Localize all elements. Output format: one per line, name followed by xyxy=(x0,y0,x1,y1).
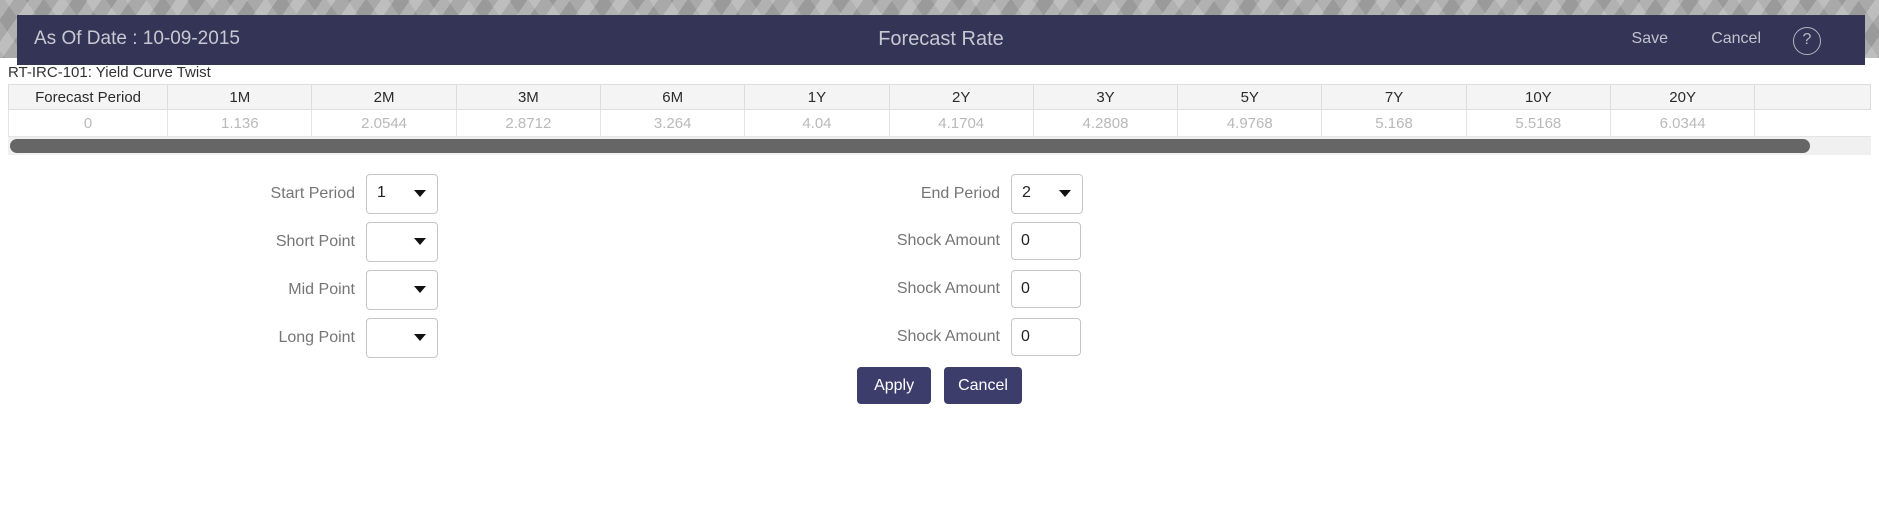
field-row-shock-amount-short: Shock Amount xyxy=(835,222,1081,260)
column-header: 5Y xyxy=(1178,85,1322,110)
column-header: 1Y xyxy=(745,85,889,110)
column-header-spacer xyxy=(1755,85,1871,110)
long-point-select[interactable] xyxy=(366,318,438,358)
column-header: 7Y xyxy=(1322,85,1466,110)
twist-parameters-form: Start Period 1 Short Point Mid Point Lon… xyxy=(0,160,1879,450)
app-header-bar: As Of Date : 10-09-2015 Forecast Rate Sa… xyxy=(17,15,1865,65)
table-cell[interactable]: 1.136 xyxy=(168,110,312,137)
field-row-short-point: Short Point xyxy=(190,222,438,262)
field-row-mid-point: Mid Point xyxy=(190,270,438,310)
label-mid-point: Mid Point xyxy=(190,281,355,299)
start-period-value: 1 xyxy=(377,184,386,202)
table-cell-spacer xyxy=(1755,110,1871,137)
short-point-select[interactable] xyxy=(366,222,438,262)
column-header: Forecast Period xyxy=(9,85,168,110)
label-short-point: Short Point xyxy=(190,233,355,251)
end-period-value: 2 xyxy=(1022,184,1031,202)
label-shock-amount-long: Shock Amount xyxy=(835,328,1000,346)
chevron-down-icon xyxy=(414,190,426,197)
column-header: 20Y xyxy=(1610,85,1754,110)
table-cell[interactable]: 5.168 xyxy=(1322,110,1466,137)
shock-amount-short-input[interactable] xyxy=(1011,222,1081,260)
table-header-row: Forecast Period1M2M3M6M1Y2Y3Y5Y7Y10Y20Y xyxy=(9,85,1871,110)
page-title: Forecast Rate xyxy=(17,28,1865,51)
table-cell[interactable]: 0 xyxy=(9,110,168,137)
column-header: 6M xyxy=(601,85,745,110)
end-period-select[interactable]: 2 xyxy=(1011,174,1083,214)
apply-button[interactable]: Apply xyxy=(857,367,931,404)
chevron-down-icon xyxy=(414,286,426,293)
field-row-long-point: Long Point xyxy=(190,318,438,358)
help-icon[interactable]: ? xyxy=(1793,27,1821,55)
table-cell[interactable]: 5.5168 xyxy=(1466,110,1610,137)
save-button[interactable]: Save xyxy=(1632,30,1668,48)
column-header: 2Y xyxy=(889,85,1033,110)
table-cell[interactable]: 3.264 xyxy=(601,110,745,137)
table-cell[interactable]: 4.2808 xyxy=(1033,110,1177,137)
column-header: 3Y xyxy=(1033,85,1177,110)
table-cell[interactable]: 4.9768 xyxy=(1178,110,1322,137)
field-row-end-period: End Period 2 xyxy=(835,174,1083,214)
table-cell[interactable]: 6.0344 xyxy=(1610,110,1754,137)
mid-point-select[interactable] xyxy=(366,270,438,310)
field-row-shock-amount-long: Shock Amount xyxy=(835,318,1081,356)
start-period-select[interactable]: 1 xyxy=(366,174,438,214)
label-shock-amount-mid: Shock Amount xyxy=(835,280,1000,298)
forecast-rate-table: Forecast Period1M2M3M6M1Y2Y3Y5Y7Y10Y20Y … xyxy=(8,84,1871,137)
grid-scrollbar-thumb[interactable] xyxy=(10,139,1810,153)
table-body: 01.1362.05442.87123.2644.044.17044.28084… xyxy=(9,110,1871,137)
column-header: 3M xyxy=(456,85,600,110)
forecast-rate-grid-container: Forecast Period1M2M3M6M1Y2Y3Y5Y7Y10Y20Y … xyxy=(8,84,1871,137)
table-cell[interactable]: 4.04 xyxy=(745,110,889,137)
table-row: 01.1362.05442.87123.2644.044.17044.28084… xyxy=(9,110,1871,137)
table-cell[interactable]: 2.8712 xyxy=(456,110,600,137)
chevron-down-icon xyxy=(414,238,426,245)
cancel-button-header[interactable]: Cancel xyxy=(1711,30,1761,48)
field-row-start-period: Start Period 1 xyxy=(190,174,438,214)
form-action-buttons: Apply Cancel xyxy=(0,367,1879,404)
field-row-shock-amount-mid: Shock Amount xyxy=(835,270,1081,308)
column-header: 2M xyxy=(312,85,456,110)
column-header: 10Y xyxy=(1466,85,1610,110)
shock-amount-long-input[interactable] xyxy=(1011,318,1081,356)
shock-amount-mid-input[interactable] xyxy=(1011,270,1081,308)
column-header: 1M xyxy=(168,85,312,110)
label-shock-amount-short: Shock Amount xyxy=(835,232,1000,250)
cancel-button-form[interactable]: Cancel xyxy=(944,367,1022,404)
label-long-point: Long Point xyxy=(190,329,355,347)
table-cell[interactable]: 2.0544 xyxy=(312,110,456,137)
chevron-down-icon xyxy=(414,334,426,341)
label-end-period: End Period xyxy=(835,185,1000,203)
chevron-down-icon xyxy=(1059,190,1071,197)
rule-subtitle: RT-IRC-101: Yield Curve Twist xyxy=(8,64,211,81)
table-cell[interactable]: 4.1704 xyxy=(889,110,1033,137)
grid-horizontal-scrollbar[interactable] xyxy=(8,137,1871,155)
label-start-period: Start Period xyxy=(190,185,355,203)
